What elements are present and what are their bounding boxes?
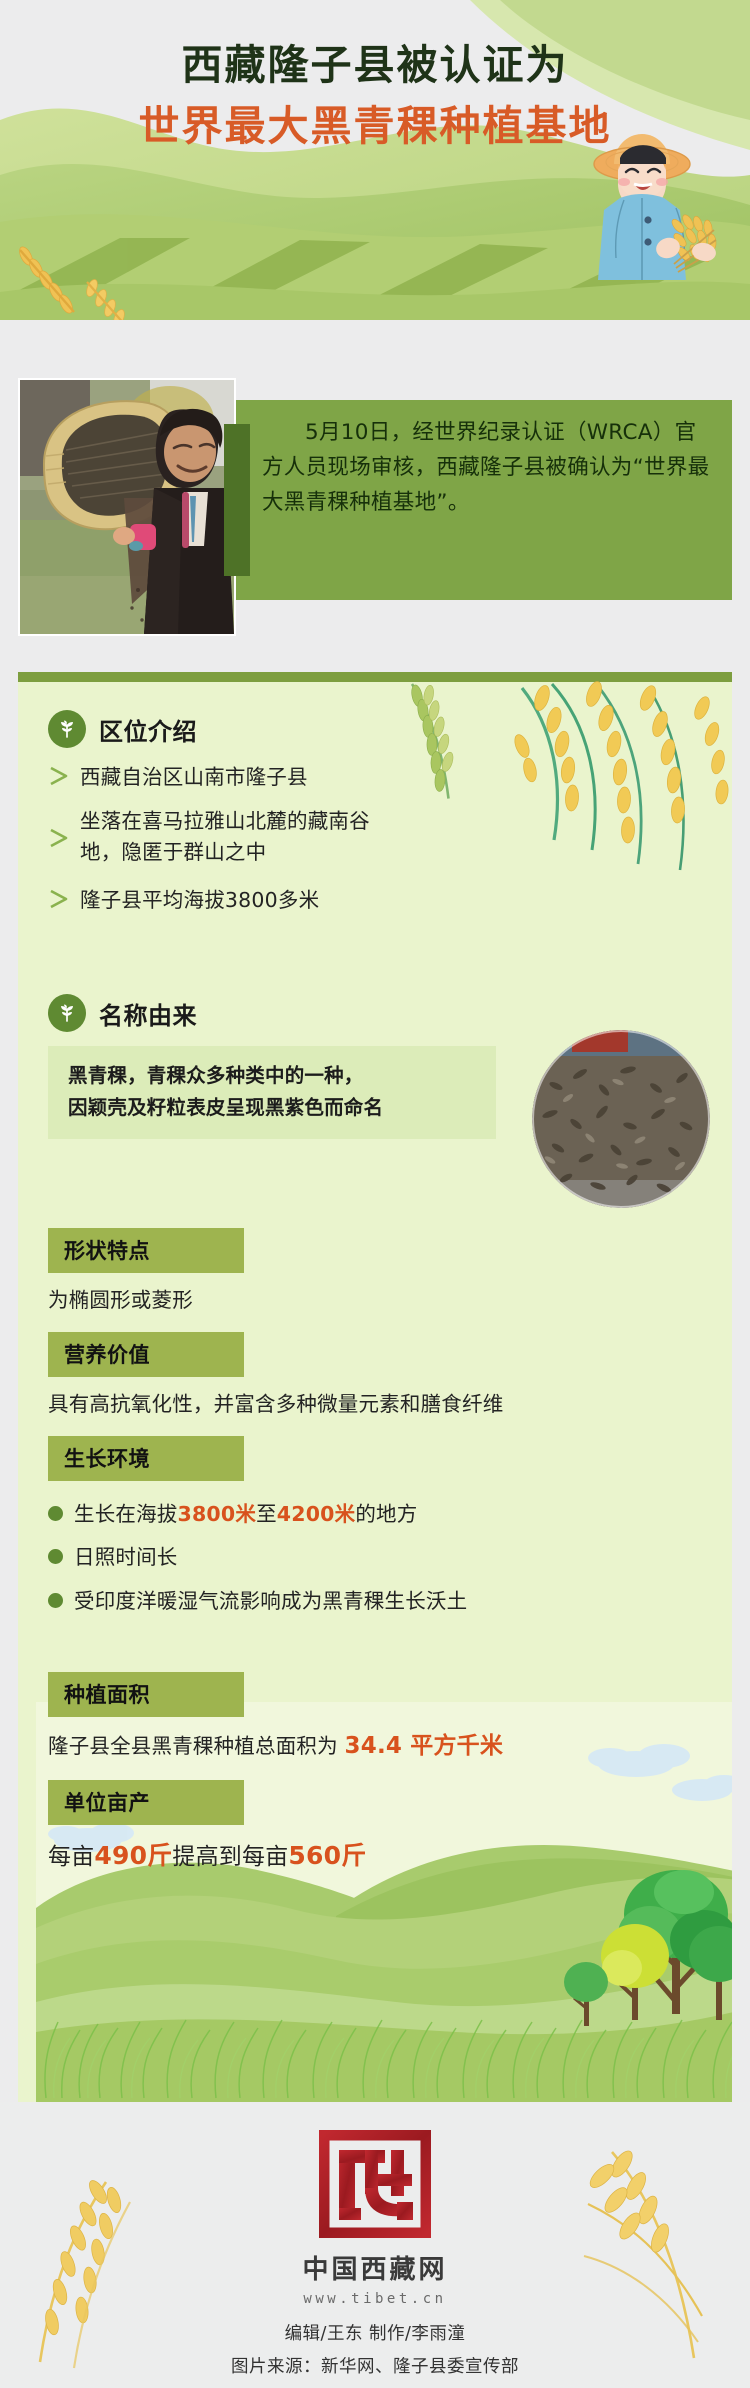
page-title-line1: 西藏隆子县被认证为	[0, 38, 750, 93]
section-origin-title: 名称由来	[99, 996, 197, 1031]
planting-area-value: 34.4 平方千米	[345, 1733, 504, 1759]
location-item-3: 隆子县平均海拔3800多米	[48, 885, 478, 915]
section-location-title: 区位介绍	[99, 712, 197, 747]
environment-bullet-1: 生长在海拔3800米至4200米的地方	[48, 1499, 688, 1529]
chevron-right-icon	[48, 889, 70, 914]
environment-bullet-1-text: 生长在海拔3800米至4200米的地方	[74, 1499, 417, 1529]
wheat-decoration-footer-left	[10, 2172, 160, 2372]
section-nutrition-label: 营养价值	[48, 1332, 244, 1377]
section-shape-label: 形状特点	[48, 1228, 244, 1273]
black-barley-image	[532, 1030, 710, 1208]
yield-after-value: 560斤	[288, 1841, 366, 1870]
section-yield-text: 每亩490斤提高到每亩560斤	[48, 1837, 698, 1875]
section-environment-label: 生长环境	[48, 1436, 244, 1481]
section-yield: 单位亩产 每亩490斤提高到每亩560斤	[48, 1780, 698, 1875]
quote-text: 5月10日，经世界纪录认证（WRCA）官方人员现场审核，西藏隆子县被确认为“世界…	[262, 416, 712, 520]
section-nutrition-text: 具有高抗氧化性，并富含多种微量元素和膳食纤维	[48, 1389, 503, 1420]
section-yield-label: 单位亩产	[48, 1780, 244, 1825]
section-area-text: 隆子县全县黑青稞种植总面积为 34.4 平方千米	[48, 1729, 698, 1764]
origin-text-card: 黑青稞，青稞众多种类中的一种， 因颖壳及籽粒表皮呈现黑紫色而命名	[48, 1046, 496, 1139]
origin-text-line2: 因颖壳及籽粒表皮呈现黑紫色而命名	[68, 1092, 476, 1124]
section-environment: 生长环境 生长在海拔3800米至4200米的地方 日照时间长 受印度洋暖湿气流影…	[48, 1436, 688, 1616]
section-location-header: 区位介绍	[48, 710, 478, 748]
chevron-right-icon	[48, 828, 70, 853]
altitude-min-value: 3800米	[178, 1502, 257, 1526]
environment-bullet-2-text: 日照时间长	[74, 1542, 178, 1572]
quote-accent-bar	[224, 424, 250, 576]
environment-bullet-3: 受印度洋暖湿气流影响成为黑青稞生长沃土	[48, 1586, 688, 1616]
location-item-1: 西藏自治区山南市隆子县	[48, 762, 478, 792]
section-origin: 名称由来 黑青稞，青稞众多种类中的一种， 因颖壳及籽粒表皮呈现黑紫色而命名	[48, 994, 518, 1139]
section-nutrition: 营养价值 具有高抗氧化性，并富含多种微量元素和膳食纤维	[48, 1332, 503, 1420]
photo-woman-image	[20, 380, 234, 634]
wheat-badge-icon	[48, 710, 86, 748]
section-location: 区位介绍 西藏自治区山南市隆子县 坐落在喜马拉雅山北麓的藏南谷地，隐匿于群山之中…	[48, 710, 478, 915]
footer: 中国西藏网 www.tibet.cn 编辑/王东 制作/李雨潼 图片来源：新华网…	[0, 2102, 750, 2388]
header-banner: 西藏隆子县被认证为 世界最大黑青稞种植基地	[0, 0, 750, 320]
bullet-dot-icon	[48, 1593, 63, 1608]
environment-bullet-2: 日照时间长	[48, 1542, 688, 1572]
location-item-3-text: 隆子县平均海拔3800多米	[80, 885, 319, 915]
altitude-max-value: 4200米	[277, 1502, 356, 1526]
section-area-label: 种植面积	[48, 1672, 244, 1717]
content-panel: 区位介绍 西藏自治区山南市隆子县 坐落在喜马拉雅山北麓的藏南谷地，隐匿于群山之中…	[18, 672, 732, 2102]
section-shape-text: 为椭圆形或菱形	[48, 1285, 244, 1316]
photo-woman-winnowing	[18, 378, 236, 636]
location-item-2: 坐落在喜马拉雅山北麓的藏南谷地，隐匿于群山之中	[48, 806, 478, 867]
environment-bullet-3-text: 受印度洋暖湿气流影响成为黑青稞生长沃土	[74, 1586, 467, 1616]
farmer-illustration-icon	[580, 128, 730, 320]
section-area: 种植面积 隆子县全县黑青稞种植总面积为 34.4 平方千米	[48, 1672, 698, 1764]
bullet-dot-icon	[48, 1549, 63, 1564]
photo-black-barley-grain	[532, 1030, 710, 1208]
yield-before-value: 490斤	[94, 1841, 172, 1870]
origin-text-line1: 黑青稞，青稞众多种类中的一种，	[68, 1060, 476, 1092]
bullet-dot-icon	[48, 1506, 63, 1521]
section-shape: 形状特点 为椭圆形或菱形	[48, 1228, 244, 1316]
chevron-right-icon	[48, 766, 70, 791]
location-item-2-text: 坐落在喜马拉雅山北麓的藏南谷地，隐匿于群山之中	[80, 806, 410, 867]
location-item-1-text: 西藏自治区山南市隆子县	[80, 762, 308, 792]
infographic-page: 西藏隆子县被认证为 世界最大黑青稞种植基地	[0, 0, 750, 2388]
section-origin-header: 名称由来	[48, 994, 518, 1032]
wheat-badge-icon	[48, 994, 86, 1032]
china-tibet-net-seal-logo-icon	[319, 2130, 431, 2238]
wheat-decoration-footer-right	[582, 2146, 742, 2366]
